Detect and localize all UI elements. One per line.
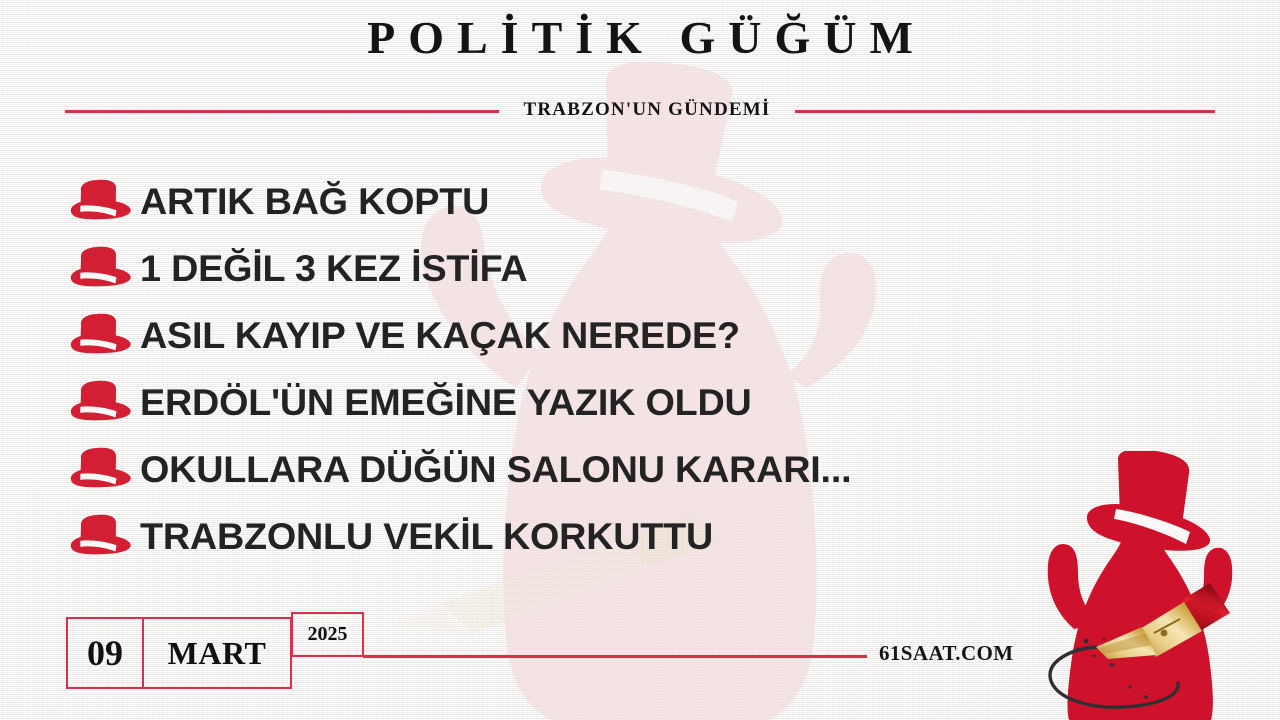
guugum-pitcher-with-top-hat-and-pen-logo xyxy=(1034,451,1264,720)
masthead: POLİTİK GÜĞÜM xyxy=(0,12,1280,64)
red-top-hat-icon xyxy=(63,308,133,363)
red-top-hat-icon xyxy=(63,509,133,564)
subtitle-row: TRABZON'UN GÜNDEMİ xyxy=(0,96,1280,126)
red-top-hat-icon xyxy=(63,174,133,229)
headline-list: ARTIK BAĞ KOPTU 1 DEĞİL 3 KEZ İSTİFA ASI… xyxy=(66,168,1066,570)
headline-text: ARTIK BAĞ KOPTU xyxy=(140,183,489,220)
date-box: 09 MART xyxy=(66,617,292,689)
headline-text: TRABZONLU VEKİL KORKUTTU xyxy=(140,518,713,555)
headline-text: OKULLARA DÜĞÜN SALONU KARARI... xyxy=(140,451,851,488)
red-top-hat-icon xyxy=(63,375,133,430)
headline-item[interactable]: 1 DEĞİL 3 KEZ İSTİFA xyxy=(66,235,1066,302)
red-top-hat-icon xyxy=(63,442,133,497)
headline-text: ASIL KAYIP VE KAÇAK NEREDE? xyxy=(140,317,740,354)
headline-text: ERDÖL'ÜN EMEĞİNE YAZIK OLDU xyxy=(140,384,752,421)
red-top-hat-icon xyxy=(63,241,133,296)
page-title: POLİTİK GÜĞÜM xyxy=(0,12,1280,64)
logo-pitcher-shape xyxy=(1048,451,1233,720)
poster-canvas: POLİTİK GÜĞÜM TRABZON'UN GÜNDEMİ ARTIK B… xyxy=(0,0,1280,720)
headline-item[interactable]: ERDÖL'ÜN EMEĞİNE YAZIK OLDU xyxy=(66,369,1066,436)
site-url[interactable]: 61SAAT.COM xyxy=(879,641,1013,666)
page-subtitle: TRABZON'UN GÜNDEMİ xyxy=(499,99,795,121)
headline-text: 1 DEĞİL 3 KEZ İSTİFA xyxy=(140,250,527,287)
date-day: 09 xyxy=(68,619,144,687)
subtitle-rule-right xyxy=(795,110,1215,113)
headline-item[interactable]: ASIL KAYIP VE KAÇAK NEREDE? xyxy=(66,302,1066,369)
headline-item[interactable]: TRABZONLU VEKİL KORKUTTU xyxy=(66,503,1066,570)
headline-item[interactable]: OKULLARA DÜĞÜN SALONU KARARI... xyxy=(66,436,1066,503)
footer-rule xyxy=(363,655,867,658)
headline-item[interactable]: ARTIK BAĞ KOPTU xyxy=(66,168,1066,235)
subtitle-rule-left xyxy=(65,110,499,113)
date-month: MART xyxy=(144,619,290,687)
date-year: 2025 xyxy=(291,612,364,657)
